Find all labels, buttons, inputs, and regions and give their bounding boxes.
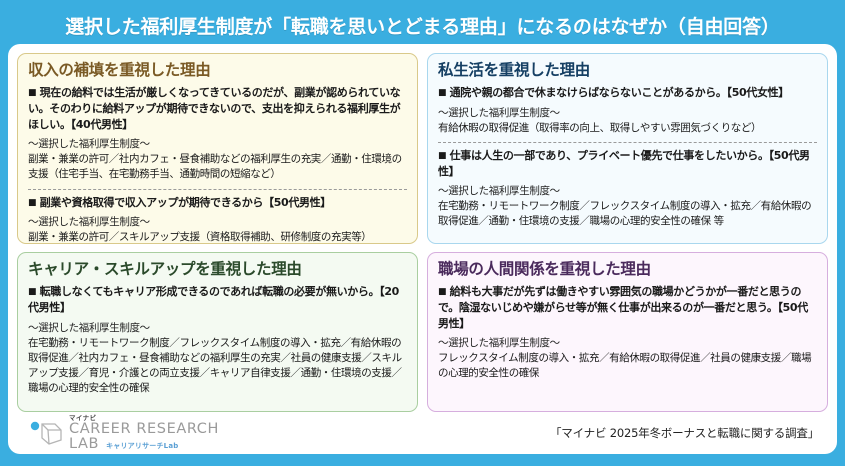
content-card: 収入の補填を重視した理由 ■ 現在の給料では生活が厳しくなってきているのだが、副… [8,44,837,454]
panel-grid: 収入の補填を重視した理由 ■ 現在の給料では生活が厳しくなってきているのだが、副… [17,53,828,412]
panel-career-skillup-entry-1: ■ 転職しなくてもキャリア形成できるのであれば転職の必要が無いから。【20代男性… [28,284,407,396]
entry-divider [438,142,817,143]
panel-private-life-title: 私生活を重視した理由 [438,61,817,80]
bullet-square-icon: ■ [28,88,36,98]
bullet-square-icon: ■ [28,287,36,297]
quote-text: ■ 通院や親の都合で休まなけらばならないことがあるから。【50代女性】 [438,85,817,101]
benefit-list: 在宅勤務・リモートワーク制度／フレックスタイム制度の導入・拡充／有給休暇の取得促… [438,199,817,229]
selected-benefit-label: 〜選択した福利厚生制度〜 [438,184,817,199]
quote-text: ■ 仕事は人生の一部であり、プライベート優先で仕事をしたいから。【50代男性】 [438,148,817,179]
header-title-bar: 選択した福利厚生制度が「転職を思いとどまる理由」になるのはなぜか（自由回答） [8,8,837,44]
logo-wordmark: マイナビ CAREER RESEARCH LAB キャリアリサーチLab [69,415,219,452]
benefit-list: 在宅勤務・リモートワーク制度／フレックスタイム制度の導入・拡充／有給休暇の取得促… [28,336,407,397]
logo-cube-svg [30,418,64,448]
quote-text: ■ 給料も大事だが先ずは働きやすい雰囲気の職場かどうかが一番だと思うので。陰湿な… [438,284,817,331]
benefit-list: 副業・兼業の許可／スキルアップ支援（資格取得補助、研修制度の充実等） [28,230,407,244]
panel-career-skillup-title: キャリア・スキルアップを重視した理由 [28,260,407,279]
panel-private-life-entry-1: ■ 通院や親の都合で休まなけらばならないことがあるから。【50代女性】 〜選択し… [438,85,817,136]
quote-body: 給料も大事だが先ずは働きやすい雰囲気の職場かどうかが一番だと思うので。陰湿ないじ… [438,285,808,329]
panel-private-life-entry-2: ■ 仕事は人生の一部であり、プライベート優先で仕事をしたいから。【50代男性】 … [438,148,817,230]
bullet-square-icon: ■ [438,151,446,161]
panel-income: 収入の補填を重視した理由 ■ 現在の給料では生活が厳しくなってきているのだが、副… [17,53,418,244]
quote-body: 副業や資格取得で収入アップが期待できるから【50代男性】 [40,196,331,209]
panel-income-entry-2: ■ 副業や資格取得で収入アップが期待できるから【50代男性】 〜選択した福利厚生… [28,195,407,244]
quote-body: 仕事は人生の一部であり、プライベート優先で仕事をしたいから。【50代男性】 [438,149,810,178]
logo-japanese-subtitle: キャリアリサーチLab [106,443,178,451]
quote-text: ■ 転職しなくてもキャリア形成できるのであれば転職の必要が無いから。【20代男性… [28,284,407,315]
panel-career-skillup: キャリア・スキルアップを重視した理由 ■ 転職しなくてもキャリア形成できるのであ… [17,252,418,412]
bullet-square-icon: ■ [438,88,446,98]
benefit-list: 副業・兼業の許可／社内カフェ・昼食補助などの福利厚生の充実／通勤・住環境の支援（… [28,152,407,182]
quote-text: ■ 副業や資格取得で収入アップが期待できるから【50代男性】 [28,195,407,211]
mynavi-career-research-lab-logo: マイナビ CAREER RESEARCH LAB キャリアリサーチLab [30,415,219,452]
quote-text: ■ 現在の給料では生活が厳しくなってきているのだが、副業が認められていない。その… [28,85,407,132]
selected-benefit-label: 〜選択した福利厚生制度〜 [28,321,407,336]
bullet-square-icon: ■ [28,198,36,208]
logo-lab-text: LAB [69,437,99,452]
panel-workplace-relations: 職場の人間関係を重視した理由 ■ 給料も大事だが先ずは働きやすい雰囲気の職場かど… [427,252,828,412]
quote-body: 転職しなくてもキャリア形成できるのであれば転職の必要が無いから。【20代男性】 [28,285,399,314]
panel-workplace-relations-title: 職場の人間関係を重視した理由 [438,260,817,279]
quote-body: 現在の給料では生活が厳しくなってきているのだが、副業が認められていない。そのわり… [28,86,400,130]
panel-income-entry-1: ■ 現在の給料では生活が厳しくなってきているのだが、副業が認められていない。その… [28,85,407,182]
card-footer: マイナビ CAREER RESEARCH LAB キャリアリサーチLab 「マイ… [8,412,837,454]
bullet-square-icon: ■ [438,287,446,297]
logo-main-text: CAREER RESEARCH [69,422,219,437]
logo-sub-row: LAB キャリアリサーチLab [69,437,219,452]
selected-benefit-label: 〜選択した福利厚生制度〜 [28,137,407,152]
source-citation: 「マイナビ 2025年冬ボーナスと転職に関する調査」 [550,425,819,441]
panel-private-life: 私生活を重視した理由 ■ 通院や親の都合で休まなけらばならないことがあるから。【… [427,53,828,244]
benefit-list: 有給休暇の取得促進（取得率の向上、取得しやすい雰囲気づくりなど） [438,121,817,136]
selected-benefit-label: 〜選択した福利厚生制度〜 [28,215,407,230]
page-title: 選択した福利厚生制度が「転職を思いとどまる理由」になるのはなぜか（自由回答） [65,12,779,39]
selected-benefit-label: 〜選択した福利厚生制度〜 [438,106,817,121]
panel-income-title: 収入の補填を重視した理由 [28,61,407,80]
infographic-root: 選択した福利厚生制度が「転職を思いとどまる理由」になるのはなぜか（自由回答） 収… [0,0,845,466]
panel-workplace-relations-entry-1: ■ 給料も大事だが先ずは働きやすい雰囲気の職場かどうかが一番だと思うので。陰湿な… [438,284,817,381]
quote-body: 通院や親の都合で休まなけらばならないことがあるから。【50代女性】 [450,86,789,99]
selected-benefit-label: 〜選択した福利厚生制度〜 [438,336,817,351]
entry-divider [28,189,407,190]
logo-cube-icon [30,418,64,448]
benefit-list: フレックスタイム制度の導入・拡充／有給休暇の取得促進／社員の健康支援／職場の心理… [438,351,817,381]
